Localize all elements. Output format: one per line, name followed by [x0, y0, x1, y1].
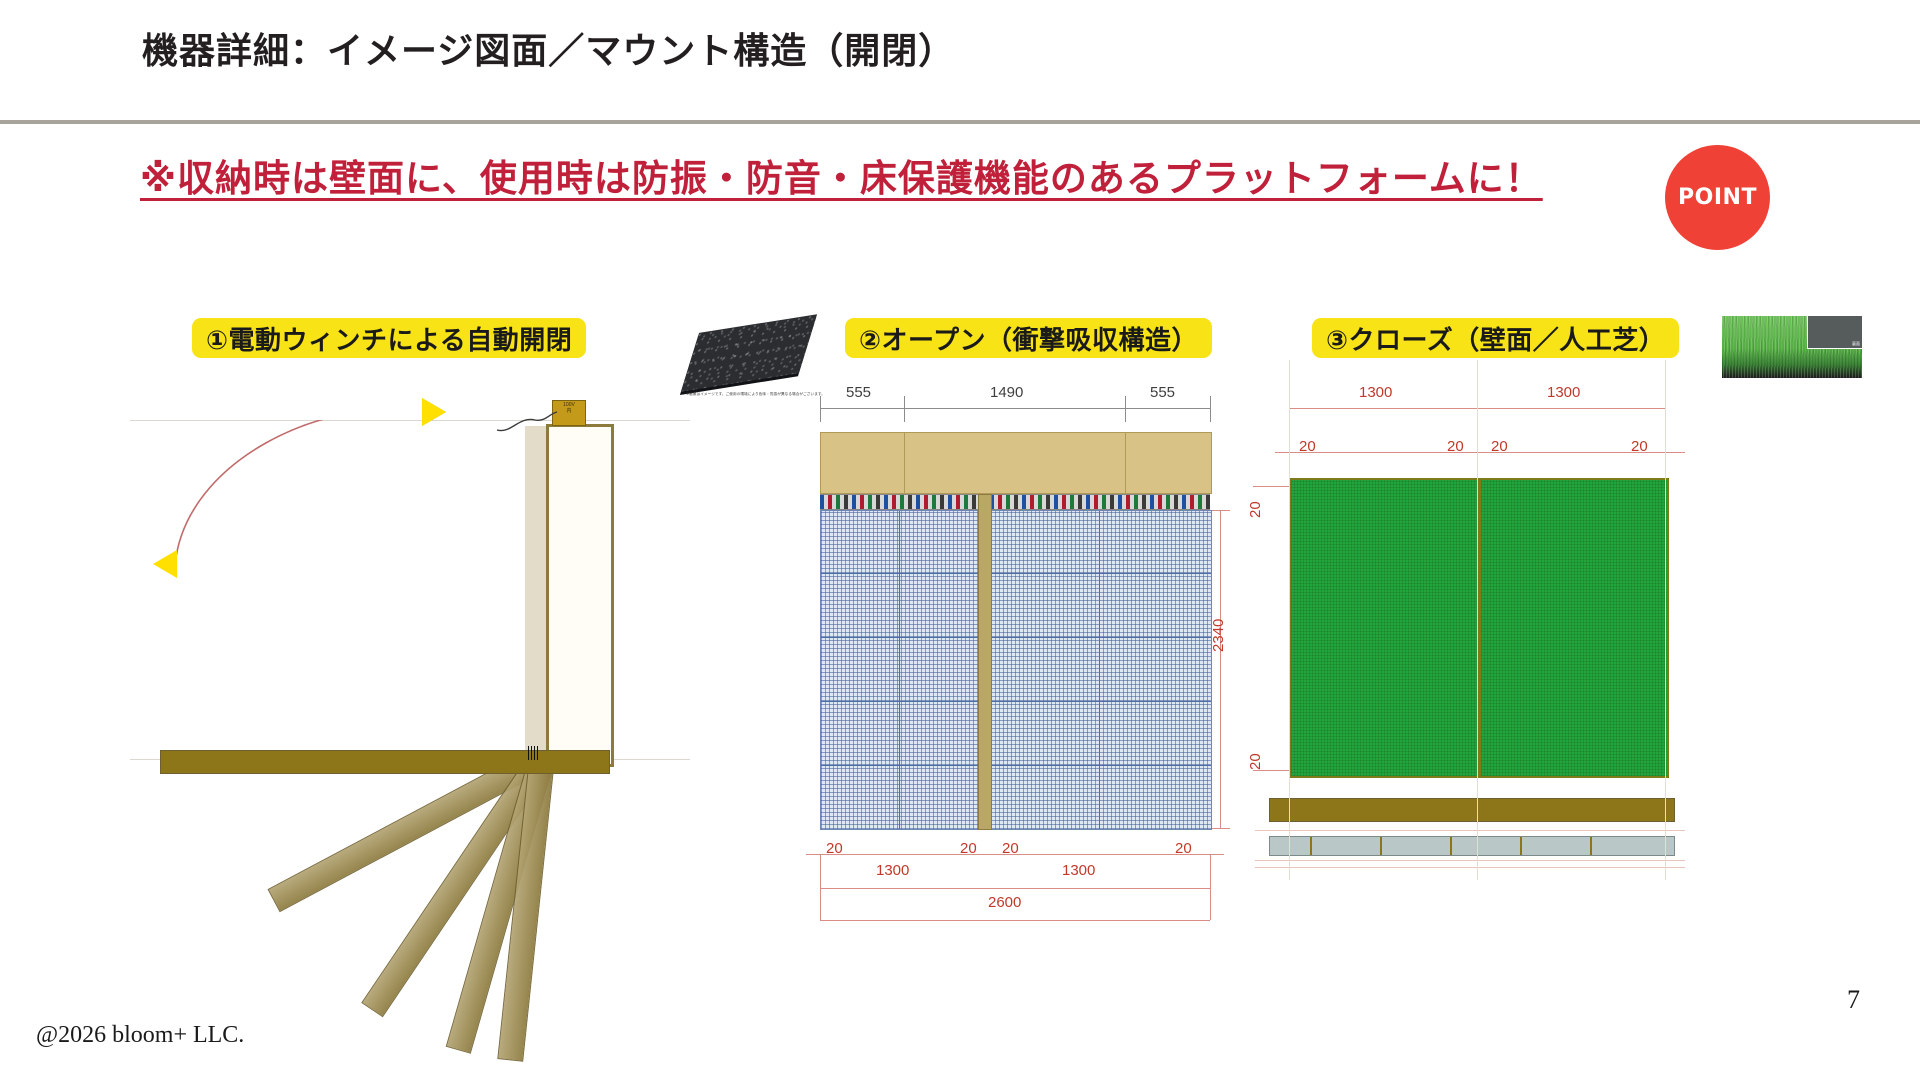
- mesh-gridline: [991, 573, 1211, 574]
- rubber-mat-caption: ※画像はイメージです。ご使用の環境により色味・質感が異なる場合がございます。: [686, 392, 836, 396]
- top-dim-tick-3: [1210, 396, 1211, 422]
- bottom-gap-label-0: 20: [826, 840, 843, 857]
- mesh-panel-left: [820, 510, 980, 830]
- slide-root: 機器詳細：イメージ図面／マウント構造（開閉） ※収納時は壁面に、使用時は防振・防…: [0, 0, 1920, 1080]
- closed-turf-wall-elevation: 1300 1300 20 20 20 20 20 20: [1275, 370, 1715, 950]
- d3-gap-line: [1275, 452, 1685, 453]
- mesh-gridline: [821, 701, 979, 702]
- lead-statement: ※収納時は壁面に、使用時は防振・防音・床保護機能のあるプラットフォームに！: [140, 148, 1543, 202]
- bottom-panel-label-1: 1300: [1062, 862, 1095, 879]
- top-dim-label-2: 555: [1150, 384, 1175, 401]
- d3-center-axis: [1477, 360, 1478, 880]
- d3-section-line-3: [1255, 867, 1685, 868]
- top-dim-tick-2: [1125, 396, 1126, 422]
- page-number: 7: [1847, 985, 1860, 1015]
- top-dim-line: [820, 408, 1210, 409]
- top-dim-label-0: 555: [846, 384, 871, 401]
- mesh-panel-right: [990, 510, 1212, 830]
- center-mullion: [978, 494, 992, 830]
- section-label-3: ③クローズ（壁面／人工芝）: [1312, 318, 1679, 358]
- turf-inset-label: 裏面: [1852, 341, 1860, 347]
- mesh-gridline: [821, 573, 979, 574]
- d3-top-label-1: 1300: [1547, 384, 1580, 401]
- mount-fastener: [1590, 837, 1592, 855]
- mesh-gridline: [991, 765, 1211, 766]
- d3-section-line-2: [1255, 860, 1685, 861]
- height-dim-ext-bottom: [1212, 828, 1230, 829]
- d3-top-label-0: 1300: [1359, 384, 1392, 401]
- section-label-1: ①電動ウィンチによる自動開閉: [192, 318, 586, 358]
- top-dim-label-1: 1490: [990, 384, 1023, 401]
- motor-cable: [495, 408, 585, 438]
- floor-base-plate: [160, 750, 610, 774]
- mount-rail: [1269, 836, 1675, 856]
- overall-width-label: 2600: [988, 894, 1021, 911]
- d3-side-label-top: 20: [1247, 501, 1264, 518]
- height-dim-ext-top: [1212, 510, 1230, 511]
- header-divider: [0, 120, 1920, 124]
- bottom-gap-label-2: 20: [1002, 840, 1019, 857]
- arrow-close-icon: [153, 550, 177, 578]
- hinge-color-strip-left: [820, 494, 980, 510]
- wall-column: [546, 424, 614, 767]
- mesh-gridline: [1099, 511, 1100, 829]
- artificial-turf-photo: 裏面: [1722, 316, 1862, 378]
- hinge-color-strip-right: [990, 494, 1210, 510]
- bottom-gap-label-1: 20: [960, 840, 977, 857]
- top-dim-tick-1: [904, 396, 905, 422]
- open-shock-absorbing-elevation: 555 1490 555 2340: [820, 370, 1260, 950]
- overall-width-tick-left: [820, 854, 821, 920]
- section-label-2: ②オープン（衝撃吸収構造）: [845, 318, 1212, 358]
- floor-base-bar: [1269, 798, 1675, 822]
- turf-panel-right: [1479, 478, 1669, 778]
- height-dim-line: [1220, 510, 1221, 828]
- rubber-mat-photo: [690, 315, 818, 387]
- pivot-hinge-icon: [528, 746, 538, 760]
- bottom-gap-label-3: 20: [1175, 840, 1192, 857]
- height-dim-label: 2340: [1210, 619, 1227, 652]
- mount-fastener: [1450, 837, 1452, 855]
- d3-section-line-1: [1255, 830, 1685, 831]
- timber-header-middle: [904, 432, 1127, 494]
- copyright-text: @2026 bloom+ LLC.: [36, 1022, 244, 1049]
- electric-winch-swing-diagram: 100V内: [150, 420, 680, 870]
- wall-cavity: [525, 426, 547, 761]
- turf-panel-left: [1289, 478, 1479, 778]
- mesh-gridline: [991, 637, 1211, 638]
- mesh-gridline: [821, 765, 979, 766]
- point-badge: POINT: [1665, 145, 1770, 250]
- mount-fastener: [1310, 837, 1312, 855]
- timber-header-right: [1125, 432, 1212, 494]
- point-badge-label: POINT: [1665, 145, 1770, 250]
- turf-backing-inset: 裏面: [1807, 316, 1862, 349]
- bottom-panel-label-0: 1300: [876, 862, 909, 879]
- overall-width-dim-line: [820, 888, 1210, 889]
- rubber-mat-surface: [681, 314, 817, 392]
- mesh-gridline: [991, 701, 1211, 702]
- mount-fastener: [1520, 837, 1522, 855]
- d3-side-label-bottom: 20: [1247, 753, 1264, 770]
- mesh-gridline: [899, 511, 900, 829]
- mesh-gridline: [821, 637, 979, 638]
- d3-right-axis: [1665, 360, 1666, 880]
- overall-width-dim-line-2: [820, 920, 1210, 921]
- mount-fastener: [1380, 837, 1382, 855]
- d3-left-axis: [1289, 360, 1290, 880]
- page-title: 機器詳細：イメージ図面／マウント構造（開閉）: [142, 22, 955, 74]
- overall-width-tick-right: [1210, 854, 1211, 920]
- arrow-open-icon: [422, 398, 446, 426]
- timber-header-left: [820, 432, 906, 494]
- top-dim-tick-0: [820, 396, 821, 422]
